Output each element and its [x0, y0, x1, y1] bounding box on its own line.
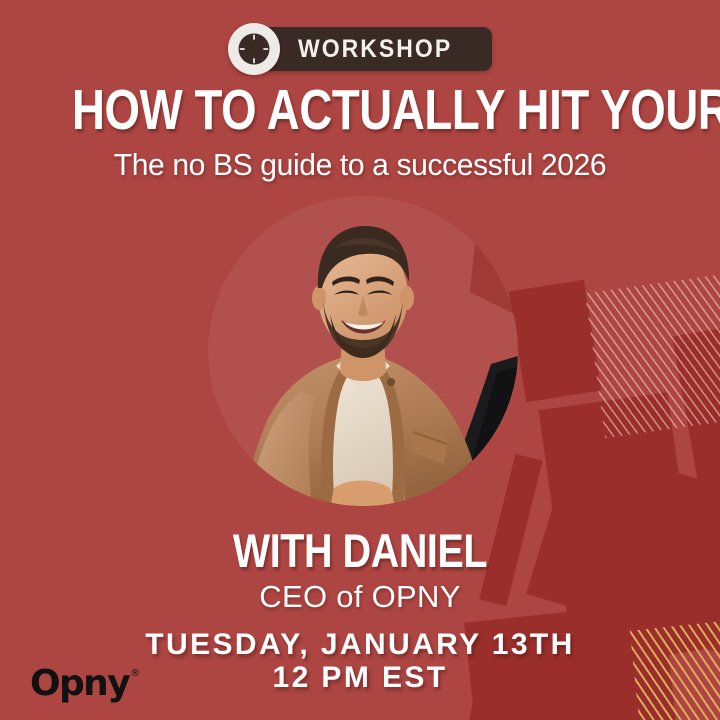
compass-icon — [228, 23, 280, 75]
registered-trademark-icon: ® — [130, 669, 140, 679]
page-title: HOW TO ACTUALLY HIT YOUR GOALS — [72, 82, 648, 139]
workshop-badge-label: WORKSHOP — [298, 37, 452, 62]
page-subtitle: The no BS guide to a successful 2026 — [11, 146, 709, 183]
speaker-role: CEO of OPNY — [0, 578, 720, 615]
workshop-badge: WORKSHOP — [0, 22, 720, 76]
speaker-name: WITH DANIEL — [58, 527, 663, 574]
bg-shape — [509, 280, 602, 403]
speaker-portrait — [208, 196, 518, 506]
event-date: TUESDAY, JANUARY 13TH — [0, 629, 720, 661]
brand-logo-text: Opny — [30, 666, 129, 702]
workshop-promo-poster: WORKSHOP HOW TO ACTUALLY HIT YOUR GOALS … — [0, 0, 720, 720]
bg-hatch-light — [585, 260, 720, 438]
bg-shape — [672, 326, 720, 543]
brand-logo: Opny ® — [30, 666, 140, 702]
